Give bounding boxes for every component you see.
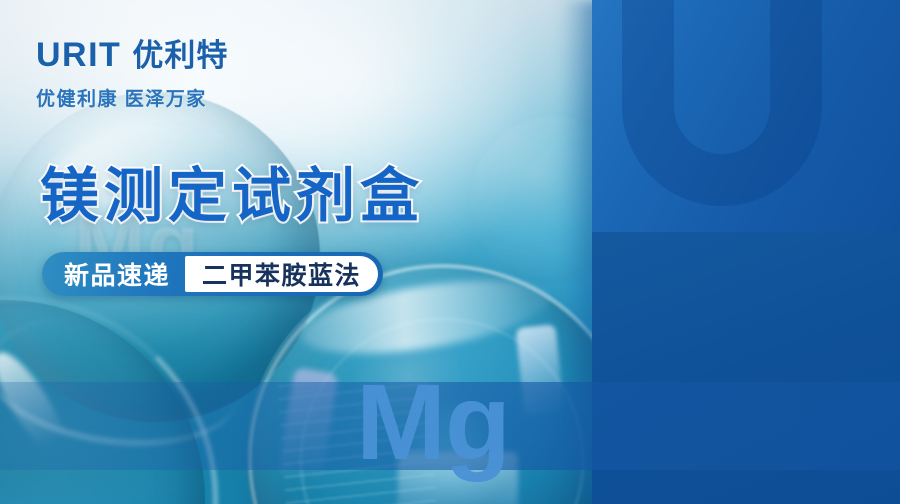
brand-name-en: URIT bbox=[36, 36, 121, 75]
badge-tag-label: 新品速递 bbox=[42, 252, 185, 296]
brand-initial-u-watermark bbox=[622, 0, 822, 206]
brand-logo-row: URIT 优利特 bbox=[36, 30, 228, 75]
product-headline: 镁测定试剂盒 bbox=[40, 148, 424, 233]
brand-name-cn: 优利特 bbox=[132, 30, 228, 75]
brand-tagline: 优健利康 医泽万家 bbox=[36, 84, 228, 111]
right-panel-upper bbox=[592, 0, 900, 232]
brand-logo: URIT 优利特 优健利康 医泽万家 bbox=[36, 30, 228, 111]
product-badge: 新品速递 二甲苯胺蓝法 bbox=[42, 252, 383, 296]
element-symbol-watermark: Mg bbox=[356, 368, 510, 476]
product-banner: Mg Mg URIT 优利特 优健利康 医泽万家 镁测定试剂盒 新品速递 二甲苯… bbox=[0, 0, 900, 504]
badge-method-label: 二甲苯胺蓝法 bbox=[185, 256, 378, 292]
